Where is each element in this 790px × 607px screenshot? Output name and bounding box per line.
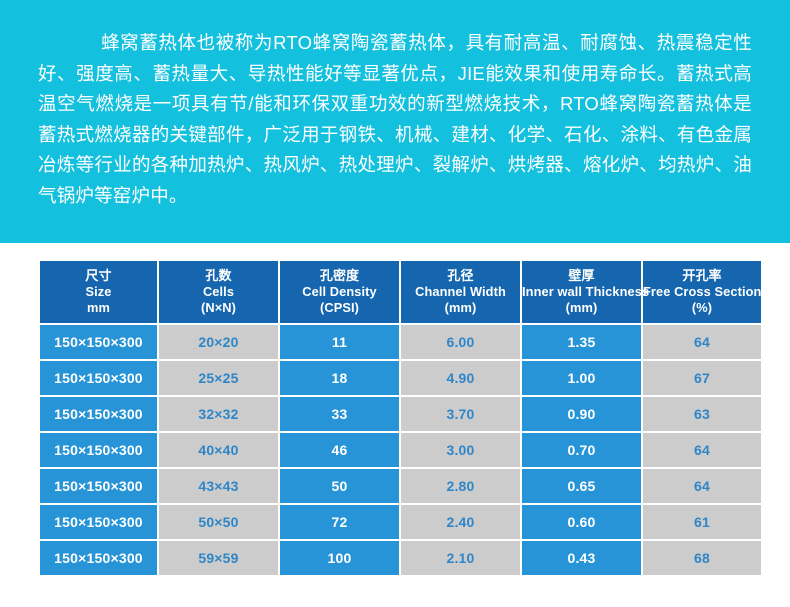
table-cell: 0.90 (522, 397, 641, 431)
table-cell: 6.00 (401, 325, 520, 359)
column-header-en: Cells (159, 284, 278, 300)
column-header-cn: 开孔率 (643, 268, 761, 284)
table-cell: 63 (643, 397, 761, 431)
column-header-en: Channel Width (401, 284, 520, 300)
table-cell: 64 (643, 325, 761, 359)
table-row: 150×150×30025×25184.901.0067 (40, 361, 761, 395)
table-cell: 0.43 (522, 541, 641, 575)
column-header-en: Cell Density (280, 284, 399, 300)
table-row: 150×150×30043×43502.800.6564 (40, 469, 761, 503)
table-cell: 1.35 (522, 325, 641, 359)
table-cell: 59×59 (159, 541, 278, 575)
table-cell: 150×150×300 (40, 361, 157, 395)
table-cell: 2.40 (401, 505, 520, 539)
table-cell: 150×150×300 (40, 433, 157, 467)
table-cell: 43×43 (159, 469, 278, 503)
column-header-unit: (mm) (401, 300, 520, 316)
column-header-unit: (CPSI) (280, 300, 399, 316)
table-cell: 2.80 (401, 469, 520, 503)
intro-paragraph: 蜂窝蓄热体也被称为RTO蜂窝陶瓷蓄热体，具有耐高温、耐腐蚀、热震稳定性好、强度高… (38, 28, 752, 211)
table-cell: 150×150×300 (40, 397, 157, 431)
column-header-cn: 孔数 (159, 268, 278, 284)
table-cell: 67 (643, 361, 761, 395)
column-header-4: 孔径Channel Width(mm) (401, 261, 520, 323)
column-header-en: Size (40, 284, 157, 300)
table-cell: 68 (643, 541, 761, 575)
table-header-row: 尺寸Sizemm孔数Cells(N×N)孔密度Cell Density(CPSI… (40, 261, 761, 323)
table-cell: 100 (280, 541, 399, 575)
table-cell: 72 (280, 505, 399, 539)
table-cell: 32×32 (159, 397, 278, 431)
column-header-cn: 孔径 (401, 268, 520, 284)
column-header-unit: mm (40, 300, 157, 316)
table-body: 150×150×30020×20116.001.3564150×150×3002… (40, 325, 761, 575)
table-row: 150×150×30020×20116.001.3564 (40, 325, 761, 359)
table-cell: 150×150×300 (40, 325, 157, 359)
table-cell: 50×50 (159, 505, 278, 539)
table-cell: 0.60 (522, 505, 641, 539)
table-cell: 50 (280, 469, 399, 503)
table-cell: 150×150×300 (40, 541, 157, 575)
column-header-5: 壁厚Inner wall Thickness(mm) (522, 261, 641, 323)
column-header-en: Inner wall Thickness (522, 284, 641, 300)
column-header-cn: 尺寸 (40, 268, 157, 284)
column-header-unit: (N×N) (159, 300, 278, 316)
table-cell: 61 (643, 505, 761, 539)
column-header-6: 开孔率Free Cross Section(%) (643, 261, 761, 323)
table-cell: 0.65 (522, 469, 641, 503)
column-header-2: 孔数Cells(N×N) (159, 261, 278, 323)
table-cell: 3.70 (401, 397, 520, 431)
column-header-cn: 孔密度 (280, 268, 399, 284)
intro-banner: 蜂窝蓄热体也被称为RTO蜂窝陶瓷蓄热体，具有耐高温、耐腐蚀、热震稳定性好、强度高… (0, 0, 790, 243)
table-cell: 0.70 (522, 433, 641, 467)
column-header-1: 尺寸Sizemm (40, 261, 157, 323)
specification-table-container: 尺寸Sizemm孔数Cells(N×N)孔密度Cell Density(CPSI… (38, 259, 753, 577)
table-cell: 18 (280, 361, 399, 395)
table-row: 150×150×30059×591002.100.4368 (40, 541, 761, 575)
column-header-3: 孔密度Cell Density(CPSI) (280, 261, 399, 323)
table-cell: 46 (280, 433, 399, 467)
table-cell: 25×25 (159, 361, 278, 395)
table-cell: 33 (280, 397, 399, 431)
column-header-en: Free Cross Section (643, 284, 761, 300)
table-cell: 3.00 (401, 433, 520, 467)
table-cell: 150×150×300 (40, 469, 157, 503)
specification-table: 尺寸Sizemm孔数Cells(N×N)孔密度Cell Density(CPSI… (38, 259, 763, 577)
table-cell: 64 (643, 469, 761, 503)
table-row: 150×150×30040×40463.000.7064 (40, 433, 761, 467)
column-header-unit: (%) (643, 300, 761, 316)
table-row: 150×150×30050×50722.400.6061 (40, 505, 761, 539)
column-header-unit: (mm) (522, 300, 641, 316)
table-cell: 64 (643, 433, 761, 467)
table-cell: 20×20 (159, 325, 278, 359)
table-cell: 1.00 (522, 361, 641, 395)
table-cell: 4.90 (401, 361, 520, 395)
column-header-cn: 壁厚 (522, 268, 641, 284)
table-cell: 2.10 (401, 541, 520, 575)
table-cell: 11 (280, 325, 399, 359)
table-header: 尺寸Sizemm孔数Cells(N×N)孔密度Cell Density(CPSI… (40, 261, 761, 323)
table-cell: 150×150×300 (40, 505, 157, 539)
table-row: 150×150×30032×32333.700.9063 (40, 397, 761, 431)
table-cell: 40×40 (159, 433, 278, 467)
